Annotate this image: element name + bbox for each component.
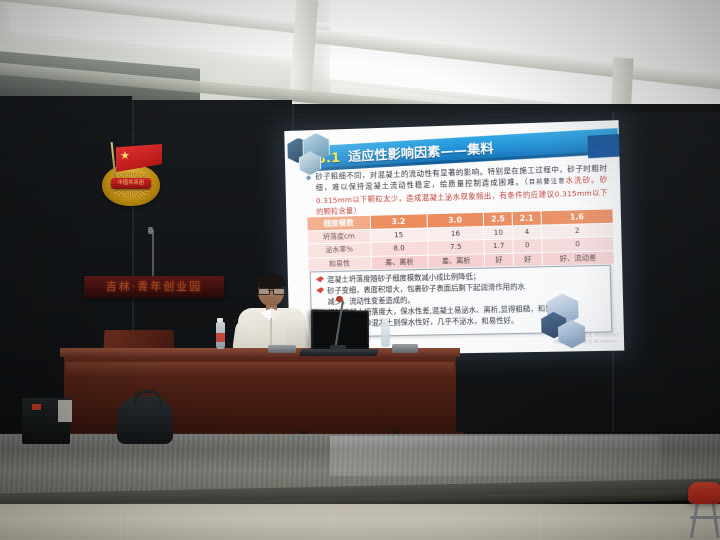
desk-highlight xyxy=(66,362,454,376)
desk-microphone-head xyxy=(336,296,343,302)
desk-device-center xyxy=(268,345,296,353)
windows-activation-watermark: 激活 Windows 转到"设置"以激活 Windows。 xyxy=(554,332,620,346)
watermark-line-2: 转到"设置"以激活 Windows。 xyxy=(554,339,620,346)
desk-microphone-base xyxy=(330,345,346,350)
slide-hexagon-decoration xyxy=(284,133,347,175)
paragraph-note: 目前要注意 xyxy=(529,178,566,186)
bottle-cap-left xyxy=(217,318,223,322)
laptop-keyboard-base xyxy=(299,349,379,356)
table-header-cell: 2.5 xyxy=(484,212,513,227)
backpack-handle xyxy=(134,390,162,405)
conference-room-photo: ★ 中国共青团 吉林·青年创业园 3.1 适应性影响因素——集料 ❖ 砂子粗细不… xyxy=(0,0,720,540)
venue-banner-text: 吉林·青年创业园 xyxy=(84,276,225,298)
desk-device-right xyxy=(392,344,418,353)
table-cell: 4 xyxy=(512,225,541,239)
table-cell: 10 xyxy=(484,226,513,240)
equipment-case-label xyxy=(32,404,41,410)
table-cell: 好、流动差 xyxy=(542,250,614,265)
hall-floor xyxy=(0,504,720,540)
water-bottle-right xyxy=(381,322,390,347)
wall-panel-right xyxy=(612,112,720,432)
table-cell: 16 xyxy=(427,227,484,242)
table-cell: 8.0 xyxy=(371,241,428,256)
table-header-cell: 3.0 xyxy=(427,212,484,228)
table-cell: 差、离析 xyxy=(371,255,428,270)
table-cell: 好 xyxy=(485,253,514,267)
table-cell: 好 xyxy=(513,252,542,266)
bullet-marker-icon: ❖ xyxy=(305,174,311,182)
chair-crossbar xyxy=(690,516,720,519)
table-cell: 7.5 xyxy=(427,240,484,255)
callout-bullet-icon-1 xyxy=(316,276,324,282)
table-header-cell: 3.2 xyxy=(370,214,427,230)
callout-bullet-icon-2 xyxy=(316,287,324,293)
bottle-cap-right xyxy=(382,318,388,322)
presenter-hair xyxy=(256,274,286,289)
presenter-glasses xyxy=(258,288,284,293)
wall-microphone-stand xyxy=(152,230,154,282)
table-header-cell: 细度模数 xyxy=(307,215,370,231)
emblem-star-icon: ★ xyxy=(120,150,130,161)
stage-floor-reflection xyxy=(330,436,660,476)
table-cell: 0 xyxy=(513,239,542,253)
table-cell: 15 xyxy=(370,228,427,243)
glasses-bridge xyxy=(268,290,273,291)
venue-banner: 吉林·青年创业园 xyxy=(84,276,225,298)
paper-sheet xyxy=(58,400,72,422)
bottle-label-left xyxy=(216,333,225,342)
table-cell: 差、离析 xyxy=(428,253,485,268)
communist-youth-league-emblem: ★ 中国共青团 xyxy=(96,142,170,212)
glasses-lens-right xyxy=(273,288,285,295)
wall-microphone-head xyxy=(148,227,153,234)
emblem-band-label: 中国共青团 xyxy=(112,179,150,188)
table-cell: 1.7 xyxy=(484,239,513,253)
table-header-cell: 2.1 xyxy=(512,211,541,226)
red-chair-seat xyxy=(688,482,720,504)
fineness-modulus-table: 细度模数 3.2 3.0 2.5 2.1 1.6 坍落度cm 15 16 10 … xyxy=(306,208,614,271)
table-row-label: 和易性 xyxy=(308,256,371,271)
